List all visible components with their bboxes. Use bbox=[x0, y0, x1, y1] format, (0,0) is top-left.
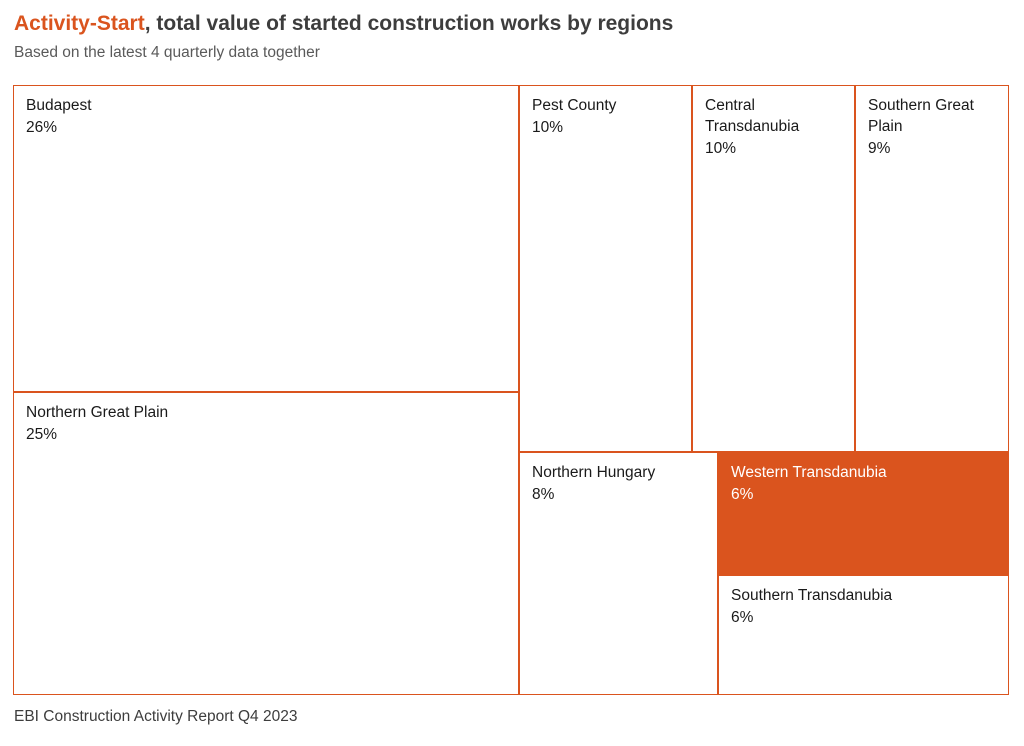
treemap-cell-text: Pest County10% bbox=[532, 95, 685, 138]
treemap-cell[interactable]: Northern Great Plain25% bbox=[13, 392, 519, 695]
treemap-cell-text: Southern Great Plain9% bbox=[868, 95, 1002, 159]
treemap-chart-page: Activity-Start, total value of started c… bbox=[0, 0, 1024, 746]
treemap-cell-label: Budapest bbox=[26, 95, 512, 116]
treemap-cell-value: 10% bbox=[705, 138, 848, 159]
treemap-cell[interactable]: Pest County10% bbox=[519, 85, 692, 452]
treemap-cell-label: Northern Hungary bbox=[532, 462, 711, 483]
treemap-cell-value: 8% bbox=[532, 484, 711, 505]
treemap-cell-value: 6% bbox=[731, 484, 1002, 505]
treemap-cell-text: Budapest26% bbox=[26, 95, 512, 138]
page-title-accent: Activity-Start bbox=[14, 12, 145, 35]
treemap-cell[interactable]: Budapest26% bbox=[13, 85, 519, 392]
treemap-cell-label: Southern Great Plain bbox=[868, 95, 1002, 137]
treemap-cell-label: Northern Great Plain bbox=[26, 402, 512, 423]
treemap-cell-value: 10% bbox=[532, 117, 685, 138]
treemap-cell-label: Pest County bbox=[532, 95, 685, 116]
treemap-cell-text: Southern Transdanubia6% bbox=[731, 585, 1002, 628]
treemap-cell[interactable]: Northern Hungary8% bbox=[519, 452, 718, 695]
treemap-cell[interactable]: Western Transdanubia6% bbox=[718, 452, 1009, 575]
page-title-rest: , total value of started construction wo… bbox=[145, 12, 674, 35]
treemap-cell-label: Central Transdanubia bbox=[705, 95, 848, 137]
treemap-cell-value: 25% bbox=[26, 424, 512, 445]
treemap-cell-text: Northern Great Plain25% bbox=[26, 402, 512, 445]
treemap-cell-text: Central Transdanubia10% bbox=[705, 95, 848, 159]
treemap-cell-value: 26% bbox=[26, 117, 512, 138]
treemap-cell[interactable]: Southern Transdanubia6% bbox=[718, 575, 1009, 695]
page-title: Activity-Start, total value of started c… bbox=[14, 10, 1010, 38]
treemap-cell-text: Western Transdanubia6% bbox=[731, 462, 1002, 505]
chart-subtitle: Based on the latest 4 quarterly data tog… bbox=[14, 43, 1010, 63]
treemap-cell-value: 6% bbox=[731, 607, 1002, 628]
treemap-cell[interactable]: Central Transdanubia10% bbox=[692, 85, 855, 452]
source-note: EBI Construction Activity Report Q4 2023 bbox=[14, 706, 297, 727]
treemap: Budapest26%Northern Great Plain25%Pest C… bbox=[13, 85, 1009, 695]
treemap-cell-text: Northern Hungary8% bbox=[532, 462, 711, 505]
treemap-cell[interactable]: Southern Great Plain9% bbox=[855, 85, 1009, 452]
treemap-cell-label: Southern Transdanubia bbox=[731, 585, 1002, 606]
treemap-cell-label: Western Transdanubia bbox=[731, 462, 1002, 483]
treemap-cell-value: 9% bbox=[868, 138, 1002, 159]
chart-header: Activity-Start, total value of started c… bbox=[14, 10, 1010, 63]
